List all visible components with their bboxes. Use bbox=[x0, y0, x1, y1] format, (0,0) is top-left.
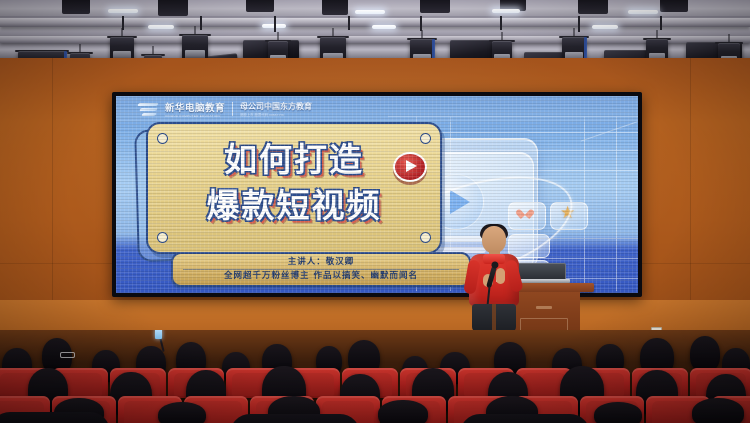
audience-shoulders bbox=[0, 412, 110, 423]
lectern-handle bbox=[536, 306, 552, 309]
ceiling-duct bbox=[322, 0, 348, 15]
presenter-head bbox=[482, 226, 506, 253]
fluorescent-tube bbox=[592, 25, 618, 29]
audience-area bbox=[0, 330, 750, 423]
fluorescent-tube bbox=[628, 10, 658, 14]
fluorescent-tube bbox=[492, 9, 520, 13]
stage-spotlight bbox=[110, 28, 134, 62]
ceiling-duct bbox=[246, 0, 274, 12]
fluorescent-tube bbox=[148, 25, 174, 29]
ceiling-duct bbox=[660, 0, 688, 12]
screenshot-root: ★ ✦ ✦ 新华电脑教育 XINHUA COMPUTER EDUCATION 母… bbox=[0, 0, 750, 423]
audience-glasses bbox=[60, 352, 75, 358]
ceiling-duct bbox=[62, 0, 90, 14]
audience-head bbox=[594, 402, 642, 423]
stage-spotlight bbox=[182, 26, 208, 62]
fluorescent-tube bbox=[355, 10, 385, 14]
audience-head bbox=[690, 336, 720, 372]
audience-head bbox=[158, 402, 206, 423]
ceiling-duct bbox=[578, 0, 608, 14]
audience-shoulders bbox=[460, 414, 590, 423]
audience-shoulders bbox=[230, 414, 360, 423]
ceiling-duct bbox=[420, 0, 450, 13]
presenter-right-hand bbox=[496, 268, 505, 284]
fluorescent-tube bbox=[372, 25, 396, 29]
audience-head bbox=[692, 398, 744, 423]
fluorescent-tube bbox=[108, 9, 138, 13]
ceiling-duct bbox=[158, 0, 188, 16]
audience-head bbox=[378, 400, 428, 423]
raised-phone-filming bbox=[155, 330, 162, 339]
